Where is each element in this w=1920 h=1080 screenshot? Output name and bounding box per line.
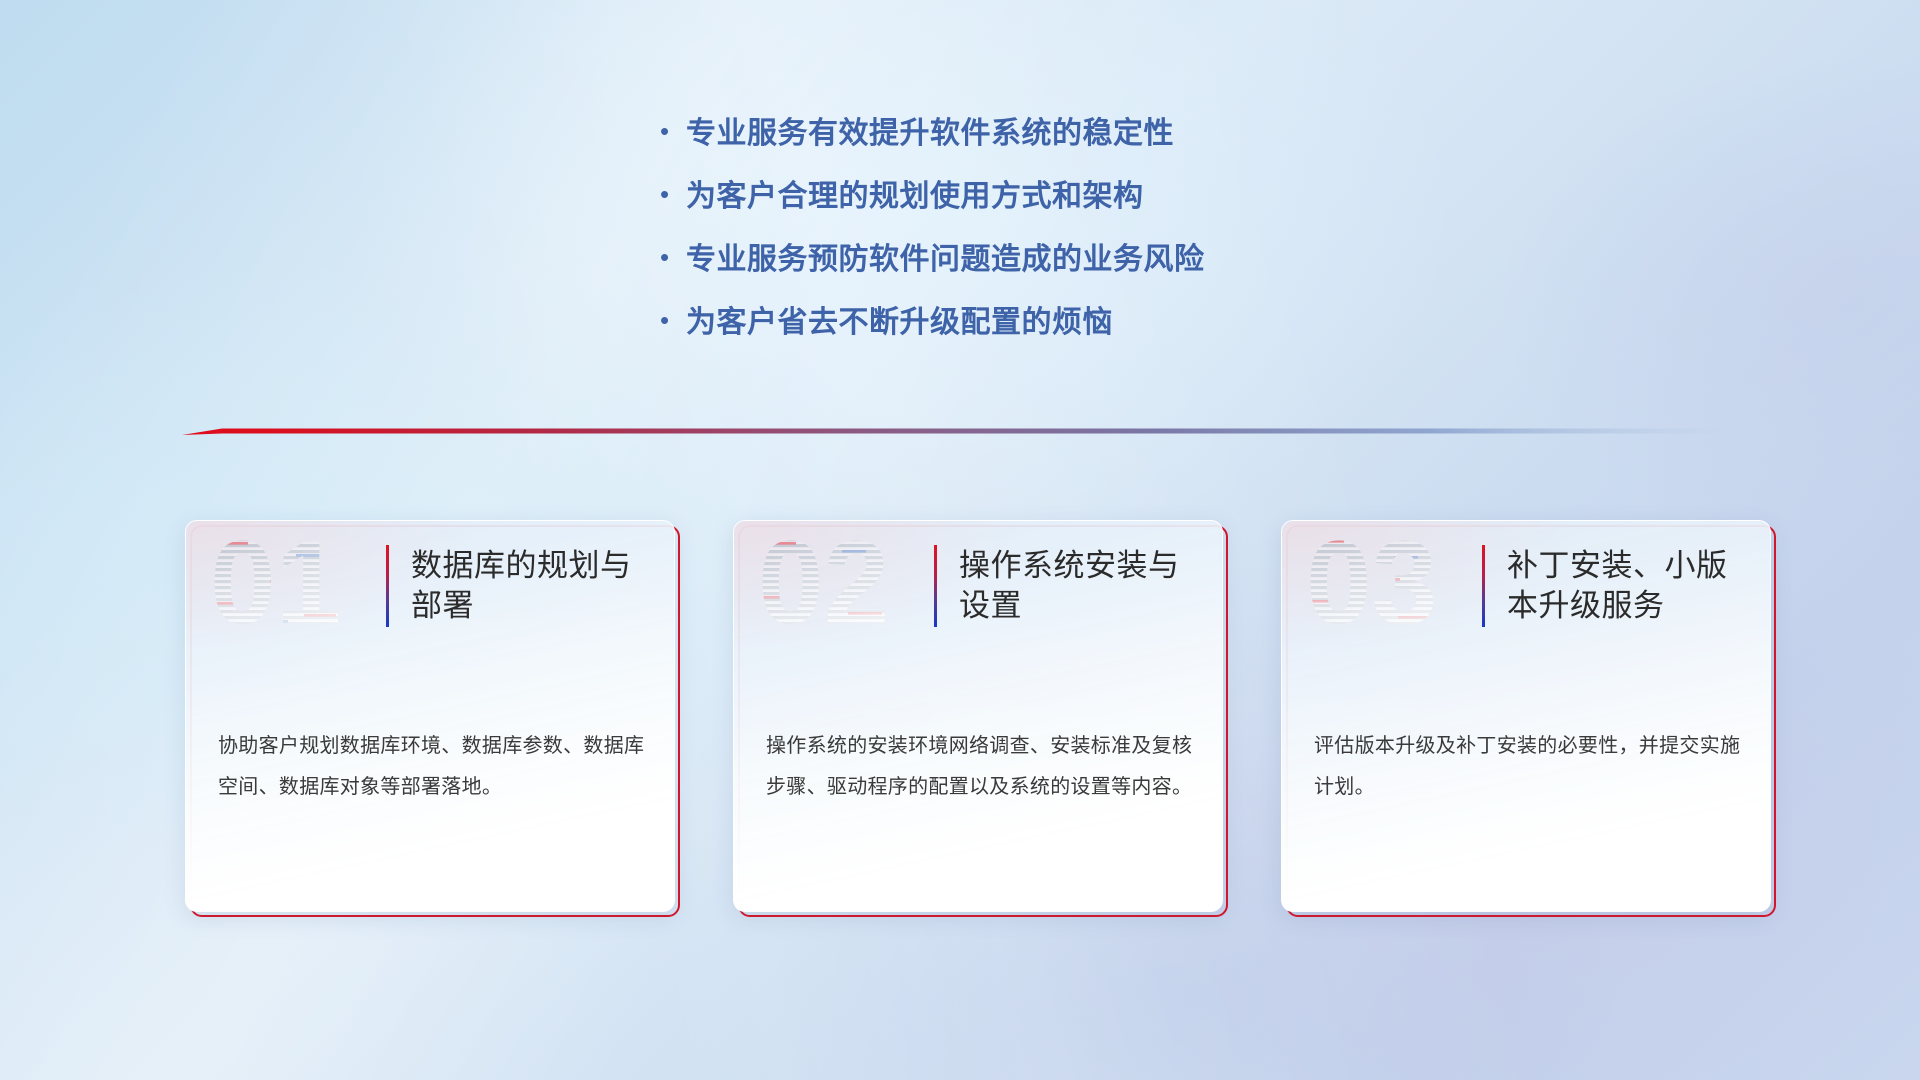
bullet-text: 为客户合理的规划使用方式和架构 <box>686 171 1144 215</box>
bullet-dot-icon: • <box>660 244 686 270</box>
bullet-dot-icon: • <box>660 307 686 333</box>
card-header: 01 <box>186 521 674 651</box>
service-card[interactable]: 02 <box>733 520 1223 912</box>
bullet-text: 为客户省去不断升级配置的烦恼 <box>686 297 1113 341</box>
card-title: 操作系统安装与设置 <box>959 546 1194 627</box>
card-title: 数据库的规划与部署 <box>411 546 646 627</box>
card-number-scanline-graphic: 03 <box>1304 526 1474 646</box>
divider-shape <box>182 424 1742 438</box>
card-description: 协助客户规划数据库环境、数据库参数、数据库空间、数据库对象等部署落地。 <box>218 726 646 808</box>
card-number-scanline-graphic: 02 <box>756 526 926 646</box>
card-number-scanline-graphic: 01 <box>208 526 378 646</box>
bullet-text: 专业服务预防软件问题造成的业务风险 <box>686 234 1205 278</box>
card-accent-bar <box>934 545 937 627</box>
benefits-bullet-list: • 专业服务有效提升软件系统的稳定性 • 为客户合理的规划使用方式和架构 • 专… <box>660 108 1420 360</box>
bullet-text: 专业服务有效提升软件系统的稳定性 <box>686 108 1174 152</box>
service-card-group: 01 <box>185 520 1775 915</box>
list-item: • 为客户省去不断升级配置的烦恼 <box>660 297 1420 360</box>
card-title: 补丁安装、小版本升级服务 <box>1507 546 1742 627</box>
card-accent-bar <box>1482 545 1485 627</box>
bullet-dot-icon: • <box>660 181 686 207</box>
bullet-dot-icon: • <box>660 118 686 144</box>
section-divider <box>182 424 1742 438</box>
list-item: • 专业服务有效提升软件系统的稳定性 <box>660 108 1420 171</box>
list-item: • 为客户合理的规划使用方式和架构 <box>660 171 1420 234</box>
card-description: 评估版本升级及补丁安装的必要性，并提交实施计划。 <box>1314 726 1742 808</box>
card-panel: 03 <box>1281 520 1771 912</box>
card-description: 操作系统的安装环境网络调查、安装标准及复核步骤、驱动程序的配置以及系统的设置等内… <box>766 726 1194 808</box>
service-card[interactable]: 01 <box>185 520 675 912</box>
card-accent-bar <box>386 545 389 627</box>
card-header: 03 <box>1282 521 1770 651</box>
card-panel: 01 <box>185 520 675 912</box>
card-header: 02 <box>734 521 1222 651</box>
card-panel: 02 <box>733 520 1223 912</box>
list-item: • 专业服务预防软件问题造成的业务风险 <box>660 234 1420 297</box>
service-card[interactable]: 03 <box>1281 520 1771 912</box>
